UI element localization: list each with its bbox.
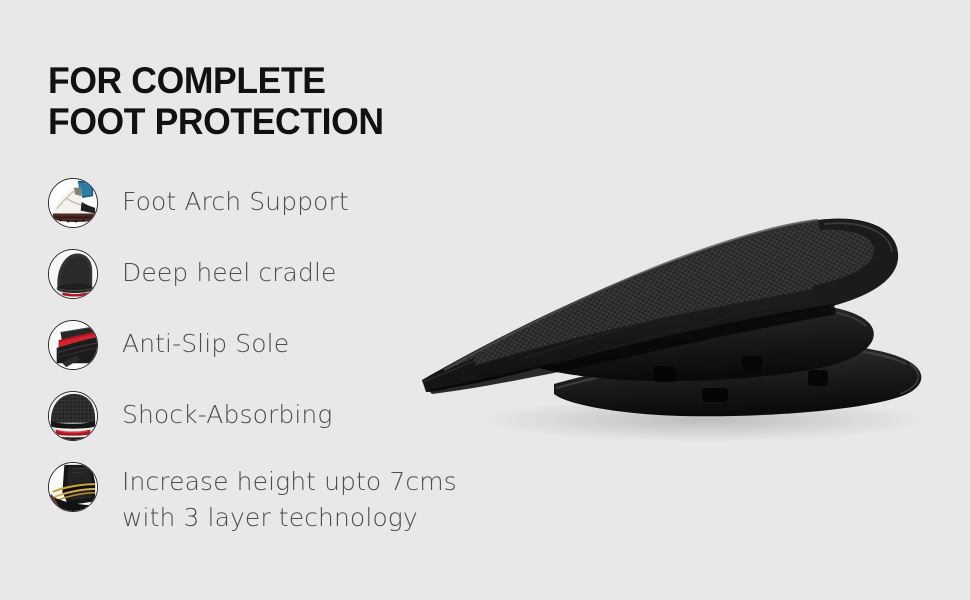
shock-absorbing-icon xyxy=(48,391,98,441)
sneaker-arch-icon xyxy=(48,178,98,228)
anti-slip-sole-icon xyxy=(48,320,98,370)
headline-line-1: FOR COMPLETE xyxy=(48,60,384,101)
page-title: FOR COMPLETE FOOT PROTECTION xyxy=(48,60,384,142)
height-increasing-insole-photo xyxy=(404,152,970,452)
height-increase-boot-icon xyxy=(48,462,98,512)
headline-line-2: FOOT PROTECTION xyxy=(48,101,384,142)
product-feature-banner: FOR COMPLETE FOOT PROTECTION xyxy=(0,0,970,600)
list-item-label: Foot Arch Support xyxy=(122,178,349,217)
heel-cradle-icon xyxy=(48,249,98,299)
list-item-label: Shock-Absorbing xyxy=(122,391,332,430)
list-item-label: Deep heel cradle xyxy=(122,249,336,288)
list-item: Increase height upto 7cms with 3 layer t… xyxy=(48,462,478,536)
insole-illustration xyxy=(404,152,970,452)
list-item-label: Increase height upto 7cms with 3 layer t… xyxy=(122,462,457,536)
list-item-label: Anti-Slip Sole xyxy=(122,320,289,359)
